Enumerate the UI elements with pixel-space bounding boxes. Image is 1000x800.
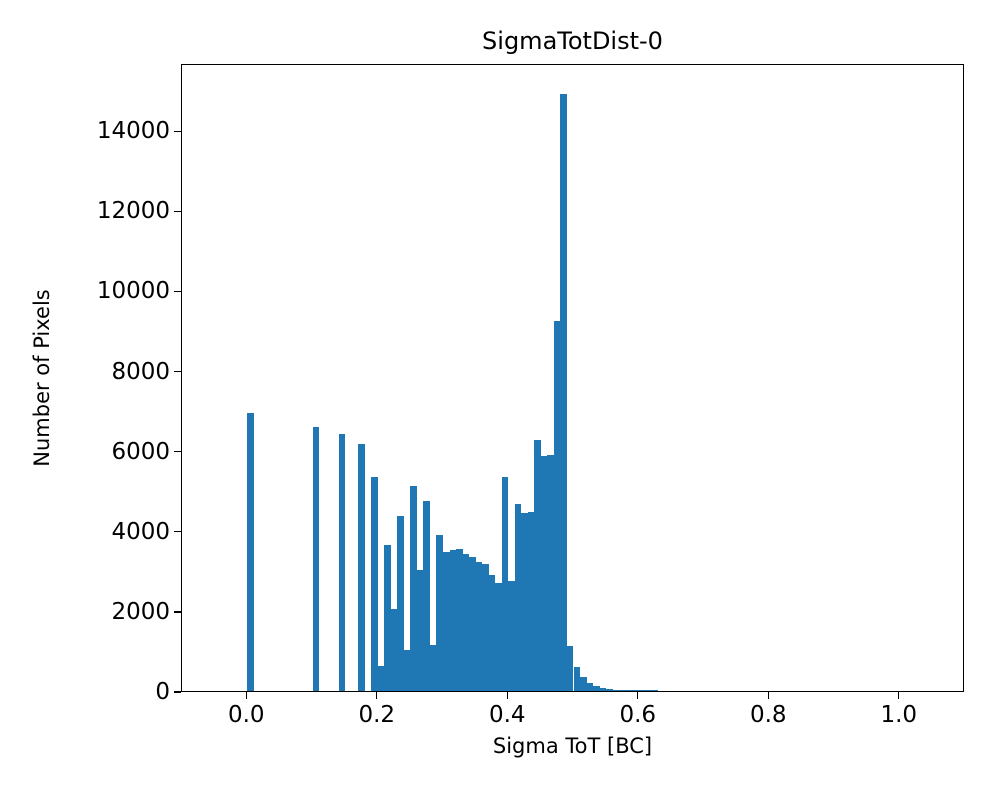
y-tick-mark [174,611,181,612]
histogram-bar [371,477,378,691]
x-tick-mark [898,692,899,699]
y-tick-mark [174,451,181,452]
histogram-bar [358,444,365,692]
x-tick-mark [246,692,247,699]
histogram-bar [547,455,554,691]
x-tick-label: 0.0 [206,702,286,728]
y-tick-mark [174,691,181,692]
x-tick-label: 1.0 [859,702,939,728]
y-tick-label: 14000 [97,118,170,144]
plot-area [181,64,964,692]
histogram-bar [528,512,535,691]
x-tick-label: 0.6 [598,702,678,728]
histogram-bar [645,690,652,691]
histogram-bar [626,690,633,691]
histogram-bar [495,583,502,691]
histogram-bar [384,545,391,691]
histogram-bar [632,690,639,691]
histogram-bar [580,677,587,691]
x-tick-mark [637,692,638,699]
histogram-bar [560,94,567,691]
histogram-bar [417,570,424,691]
y-tick-label: 6000 [111,439,170,465]
y-tick-label: 4000 [111,519,170,545]
y-tick-mark [174,211,181,212]
chart-figure: SigmaTotDist-0 0200040006000800010000120… [0,0,1000,800]
x-tick-label: 0.2 [337,702,417,728]
y-axis-label: Number of Pixels [28,64,56,692]
chart-title: SigmaTotDist-0 [181,26,964,56]
histogram-bar [313,427,320,691]
histogram-bars [182,65,963,691]
y-tick-mark [174,291,181,292]
histogram-bar [502,477,509,691]
histogram-bar [600,688,607,691]
x-tick-mark [507,692,508,699]
x-tick-label: 0.4 [467,702,547,728]
histogram-bar [247,413,254,691]
histogram-bar [515,504,522,691]
histogram-bar [567,646,574,691]
y-tick-label: 12000 [97,198,170,224]
x-tick-mark [768,692,769,699]
histogram-bar [652,690,659,691]
y-tick-label: 8000 [111,359,170,385]
y-tick-mark [174,131,181,132]
y-tick-label: 0 [155,679,170,705]
y-tick-mark [174,531,181,532]
histogram-bar [436,535,443,691]
histogram-bar [339,434,346,691]
histogram-bar [430,645,437,691]
y-tick-mark [174,371,181,372]
histogram-bar [463,554,470,691]
y-tick-label: 10000 [97,278,170,304]
histogram-bar [469,557,476,691]
histogram-bar [450,550,457,691]
x-axis-label: Sigma ToT [BC] [181,733,964,759]
y-tick-label: 2000 [111,599,170,625]
histogram-bar [593,686,600,691]
x-tick-label: 0.8 [728,702,808,728]
histogram-bar [404,650,411,691]
histogram-bar [613,690,620,691]
histogram-bar [482,564,489,691]
histogram-bar [534,440,541,691]
x-tick-mark [376,692,377,699]
histogram-bar [397,516,404,691]
